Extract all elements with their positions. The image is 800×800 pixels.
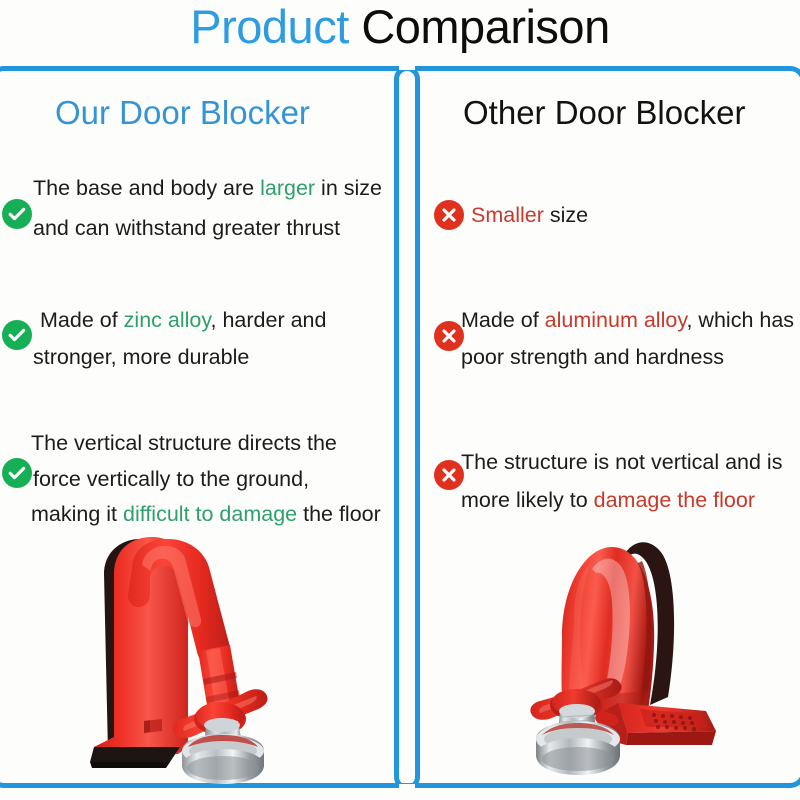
feature-line: Made of aluminum alloy, which has: [461, 300, 794, 340]
feature-text: The vertical structure directs the: [31, 431, 337, 455]
column-heading-other: Other Door Blocker: [463, 93, 745, 133]
feature-line: poor strength and hardness: [461, 337, 724, 377]
x-circle-icon: [434, 200, 464, 230]
feature-text: The base and body are: [33, 176, 260, 200]
feature-highlight: damage the floor: [594, 488, 755, 512]
feature-highlight: zinc alloy: [124, 308, 211, 332]
feature-line: stronger, more durable: [33, 337, 249, 377]
check-circle-icon: [2, 199, 32, 229]
feature-highlight: Smaller: [471, 203, 544, 227]
feature-line: The vertical structure directs the: [31, 423, 337, 463]
divider-top-mask: [399, 60, 415, 70]
other-door-blocker-photo: [500, 525, 800, 790]
feature-line: more likely to damage the floor: [461, 480, 755, 520]
check-circle-icon: [2, 458, 32, 488]
feature-text: more likely to: [461, 488, 594, 512]
feature-line: Made of zinc alloy, harder and: [40, 300, 326, 340]
feature-text: making it: [31, 502, 123, 526]
feature-highlight: difficult to damage: [123, 502, 297, 526]
column-heading-ours: Our Door Blocker: [55, 93, 310, 133]
title-word-comparison: Comparison: [361, 0, 609, 53]
feature-text: in size: [315, 176, 382, 200]
feature-line: force vertically to the ground,: [33, 459, 309, 499]
feature-text: , harder and: [211, 308, 327, 332]
feature-text: and can withstand greater thrust: [33, 216, 340, 240]
feature-highlight: aluminum alloy: [545, 308, 687, 332]
feature-line: The structure is not vertical and is: [461, 442, 782, 482]
feature-highlight: larger: [260, 176, 315, 200]
feature-line: Smaller size: [471, 195, 588, 235]
check-circle-icon: [2, 320, 32, 350]
x-circle-icon: [434, 321, 464, 351]
feature-text: Made of: [40, 308, 124, 332]
x-circle-icon: [434, 460, 464, 490]
feature-text: stronger, more durable: [33, 345, 249, 369]
page-title: Product Comparison: [0, 0, 800, 58]
feature-line: and can withstand greater thrust: [33, 208, 340, 248]
feature-text: poor strength and hardness: [461, 345, 724, 369]
feature-text: , which has: [686, 308, 794, 332]
center-divider: [394, 66, 420, 790]
feature-text: Made of: [461, 308, 545, 332]
feature-text: force vertically to the ground,: [33, 467, 309, 491]
divider-bottom-mask: [399, 784, 415, 792]
product-comparison-infographic: Product Comparison Our Door Blocker Othe…: [0, 0, 800, 800]
feature-text: the floor: [297, 502, 381, 526]
our-door-blocker-photo: [70, 525, 390, 790]
feature-text: The structure is not vertical and is: [461, 450, 782, 474]
feature-line: The base and body are larger in size: [33, 168, 382, 208]
feature-text: size: [544, 203, 588, 227]
title-word-product: Product: [190, 0, 348, 53]
